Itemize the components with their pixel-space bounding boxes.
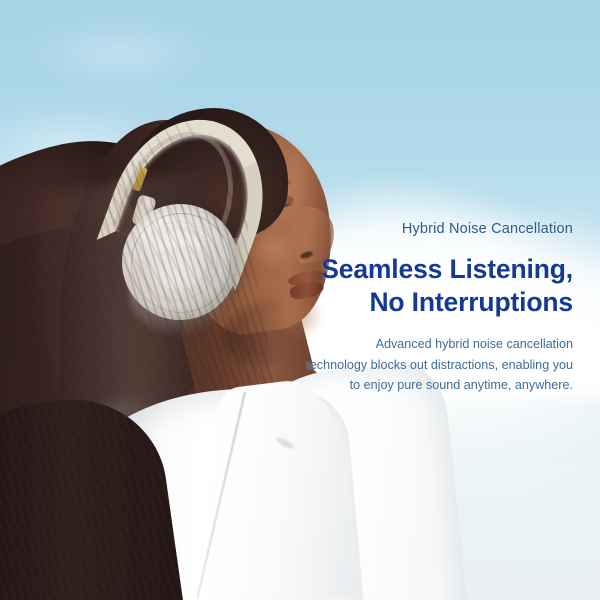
- body-line-2: technology blocks out distractions, enab…: [243, 355, 573, 375]
- headline-line-2: No Interruptions: [243, 286, 573, 319]
- body-line-3: to enjoy pure sound anytime, anywhere.: [243, 375, 573, 395]
- eyebrow-label: Hybrid Noise Cancellation: [243, 220, 573, 240]
- headline-line-1: Seamless Listening,: [321, 254, 573, 284]
- product-hero-banner: Hybrid Noise Cancellation Seamless Liste…: [0, 0, 600, 600]
- marketing-copy-block: Hybrid Noise Cancellation Seamless Liste…: [243, 220, 573, 395]
- page-title: Seamless Listening, No Interruptions: [243, 253, 573, 320]
- body-line-1: Advanced hybrid noise cancellation: [243, 334, 573, 354]
- body-copy: Advanced hybrid noise cancellation techn…: [243, 334, 573, 395]
